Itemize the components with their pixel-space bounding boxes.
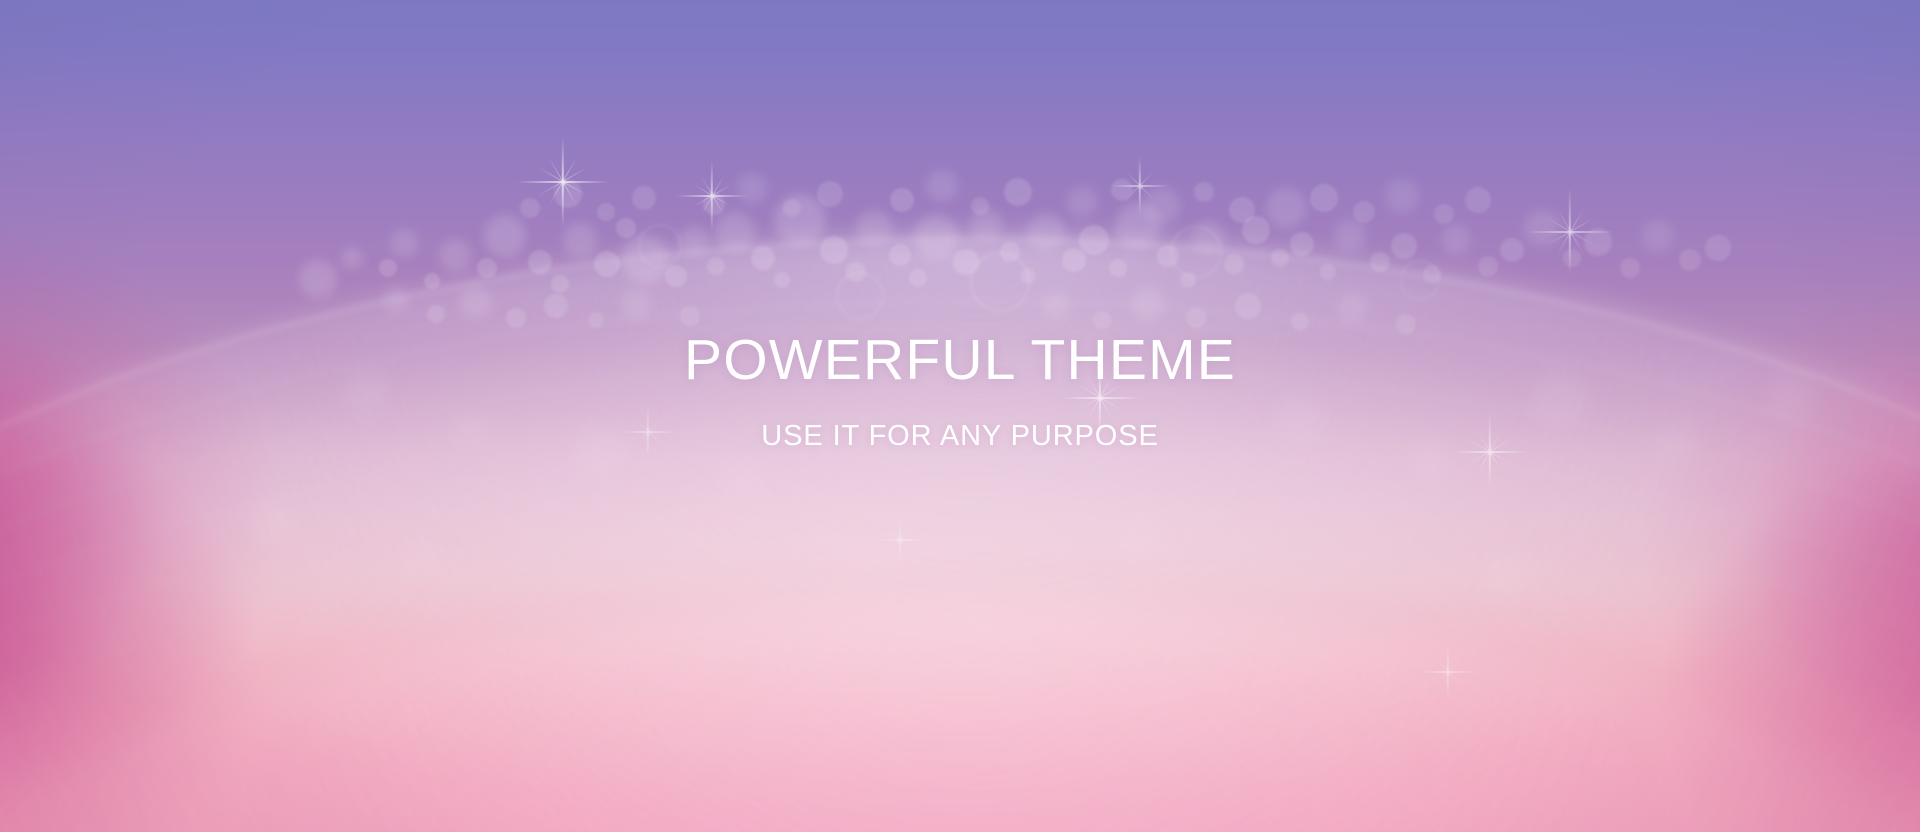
hero-content: POWERFUL THEME USE IT FOR ANY PURPOSE xyxy=(0,0,1920,832)
hero-subtitle: USE IT FOR ANY PURPOSE xyxy=(761,422,1158,451)
hero-banner: POWERFUL THEME USE IT FOR ANY PURPOSE xyxy=(0,0,1920,832)
page-title: POWERFUL THEME xyxy=(684,332,1236,389)
